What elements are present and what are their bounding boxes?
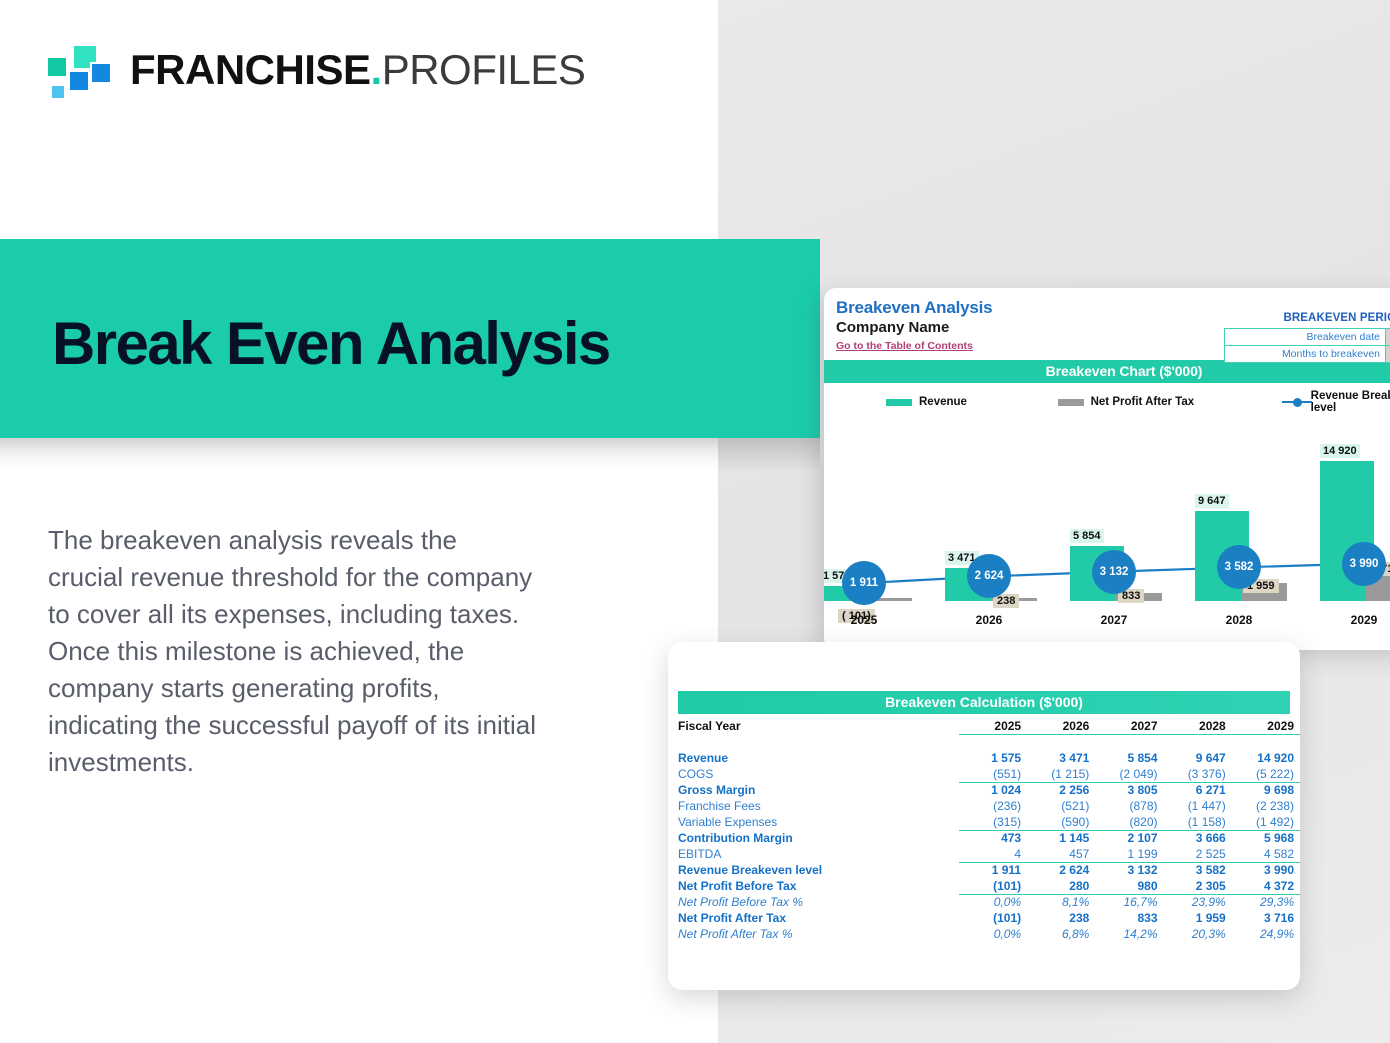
cell-2029: (2 238) bbox=[1232, 798, 1300, 814]
cell-2026: 2 624 bbox=[1027, 862, 1095, 878]
cell-2025: 473 bbox=[959, 830, 1027, 846]
breakeven-marker-2029: 3 990 bbox=[1342, 542, 1386, 586]
table-header: Fiscal Year 20252026202720282029 bbox=[668, 718, 1300, 734]
cell-2025: 1 024 bbox=[959, 782, 1027, 798]
table-row: Net Profit Before Tax(101)2809802 3054 3… bbox=[668, 878, 1300, 894]
cell-2026: 3 471 bbox=[1027, 750, 1095, 766]
cell-2026: 8,1% bbox=[1027, 894, 1095, 910]
cell-2028: 9 647 bbox=[1164, 750, 1232, 766]
row-label: EBITDA bbox=[668, 846, 959, 862]
cell-2026: 6,8% bbox=[1027, 926, 1095, 942]
legend-item-net-profit-after-tax: Net Profit After Tax bbox=[1058, 396, 1282, 408]
cell-2025: 0,0% bbox=[959, 926, 1027, 942]
breakeven-chart-plot: 1 575( 101)1 91120253 4712382 62420265 8… bbox=[824, 416, 1390, 629]
row-label: Net Profit After Tax bbox=[668, 910, 959, 926]
cell-2025: 1 911 bbox=[959, 862, 1027, 878]
cell-2027: (2 049) bbox=[1095, 766, 1163, 782]
table-spacer bbox=[668, 734, 1300, 750]
column-header-2025: 2025 bbox=[959, 718, 1027, 734]
cell-2029: (1 492) bbox=[1232, 814, 1300, 830]
table-body: Revenue1 5753 4715 8549 64714 920COGS(55… bbox=[668, 734, 1300, 942]
legend-label-net-profit-after-tax: Net Profit After Tax bbox=[1091, 396, 1195, 408]
cell-2027: 3 805 bbox=[1095, 782, 1163, 798]
chart-legend: Revenue Net Profit After Tax Revenue Bre… bbox=[824, 383, 1390, 414]
cell-2028: (1 447) bbox=[1164, 798, 1232, 814]
table-header-row: Fiscal Year 20252026202720282029 bbox=[668, 718, 1300, 734]
x-axis-tick-2028: 2028 bbox=[1209, 613, 1269, 627]
cell-2029: (5 222) bbox=[1232, 766, 1300, 782]
cell-2025: (236) bbox=[959, 798, 1027, 814]
cell-2028: 20,3% bbox=[1164, 926, 1232, 942]
logo-dot: . bbox=[371, 46, 382, 93]
cell-2028: 2 305 bbox=[1164, 878, 1232, 894]
legend-item-revenue-breakeven-level: Revenue Breakeven level bbox=[1282, 390, 1390, 414]
column-header-fiscal-year: Fiscal Year bbox=[668, 718, 959, 734]
months-to-breakeven-value: 8 bbox=[1386, 346, 1390, 363]
legend-line-marker-icon bbox=[1282, 398, 1307, 407]
cell-2029: 5 968 bbox=[1232, 830, 1300, 846]
intro-paragraph: The breakeven analysis reveals the cruci… bbox=[48, 522, 618, 781]
cell-2025: (101) bbox=[959, 878, 1027, 894]
table-row: Net Profit After Tax(101)2388331 9593 71… bbox=[668, 910, 1300, 926]
cell-2027: 5 854 bbox=[1095, 750, 1163, 766]
cell-2028: 3 582 bbox=[1164, 862, 1232, 878]
row-label: Franchise Fees bbox=[668, 798, 959, 814]
cell-2027: 14,2% bbox=[1095, 926, 1163, 942]
cell-2027: 3 132 bbox=[1095, 862, 1163, 878]
breakeven-period-block: BREAKEVEN PERIOD Breakeven date Aug-25 M… bbox=[1224, 312, 1390, 363]
chart-banner-title: Breakeven Chart ($'000) bbox=[824, 360, 1390, 383]
cell-2026: (521) bbox=[1027, 798, 1095, 814]
cell-2026: 1 145 bbox=[1027, 830, 1095, 846]
row-label: Contribution Margin bbox=[668, 830, 959, 846]
x-axis-tick-2026: 2026 bbox=[959, 613, 1019, 627]
cell-2027: 980 bbox=[1095, 878, 1163, 894]
table-row: Contribution Margin4731 1452 1073 6665 9… bbox=[668, 830, 1300, 846]
x-axis-tick-2027: 2027 bbox=[1084, 613, 1144, 627]
cell-2029: 4 372 bbox=[1232, 878, 1300, 894]
cell-2025: 0,0% bbox=[959, 894, 1027, 910]
cell-2027: 2 107 bbox=[1095, 830, 1163, 846]
row-label: Variable Expenses bbox=[668, 814, 959, 830]
table-row: Months to breakeven 8 bbox=[1225, 346, 1390, 363]
breakeven-marker-2026: 2 624 bbox=[967, 554, 1011, 598]
table-row: Net Profit After Tax %0,0%6,8%14,2%20,3%… bbox=[668, 926, 1300, 942]
row-label: Net Profit After Tax % bbox=[668, 926, 959, 942]
cell-2029: 24,9% bbox=[1232, 926, 1300, 942]
cell-2026: (1 215) bbox=[1027, 766, 1095, 782]
table-row: Revenue Breakeven level1 9112 6243 1323 … bbox=[668, 862, 1300, 878]
cell-2025: (315) bbox=[959, 814, 1027, 830]
months-to-breakeven-label: Months to breakeven bbox=[1225, 346, 1386, 363]
column-header-2029: 2029 bbox=[1232, 718, 1300, 734]
breakeven-period-table: Breakeven date Aug-25 Months to breakeve… bbox=[1224, 328, 1390, 363]
cell-2029: 3 716 bbox=[1232, 910, 1300, 926]
table-row: Breakeven date Aug-25 bbox=[1225, 329, 1390, 346]
background-top-left bbox=[0, 0, 718, 239]
logo-word-franchise: FRANCHISE bbox=[130, 46, 371, 93]
cell-2029: 14 920 bbox=[1232, 750, 1300, 766]
cell-2028: (3 376) bbox=[1164, 766, 1232, 782]
calculation-banner-title: Breakeven Calculation ($'000) bbox=[678, 691, 1290, 714]
x-axis-tick-2025: 2025 bbox=[834, 613, 894, 627]
cell-2029: 3 990 bbox=[1232, 862, 1300, 878]
cell-2027: (878) bbox=[1095, 798, 1163, 814]
cell-2026: 238 bbox=[1027, 910, 1095, 926]
cell-2027: 833 bbox=[1095, 910, 1163, 926]
table-row: Gross Margin1 0242 2563 8056 2719 698 bbox=[668, 782, 1300, 798]
row-label: Revenue bbox=[668, 750, 959, 766]
cell-2026: 457 bbox=[1027, 846, 1095, 862]
cell-2028: 23,9% bbox=[1164, 894, 1232, 910]
logo-mark-icon bbox=[46, 44, 108, 96]
breakeven-calculation-card: Breakeven Calculation ($'000) Fiscal Yea… bbox=[668, 642, 1300, 990]
cell-2025: (551) bbox=[959, 766, 1027, 782]
table-of-contents-link[interactable]: Go to the Table of Contents bbox=[836, 340, 973, 352]
table-row: Variable Expenses(315)(590)(820)(1 158)(… bbox=[668, 814, 1300, 830]
row-label: COGS bbox=[668, 766, 959, 782]
column-header-2028: 2028 bbox=[1164, 718, 1232, 734]
cell-2028: 6 271 bbox=[1164, 782, 1232, 798]
data-label-revenue-2028: 9 647 bbox=[1195, 494, 1229, 508]
cell-2027: 16,7% bbox=[1095, 894, 1163, 910]
legend-swatch-icon bbox=[886, 399, 912, 406]
cell-2028: 2 525 bbox=[1164, 846, 1232, 862]
legend-label-revenue-breakeven-level: Revenue Breakeven level bbox=[1311, 390, 1390, 414]
data-label-revenue-2027: 5 854 bbox=[1070, 529, 1104, 543]
logo-wordmark: FRANCHISE.PROFILES bbox=[130, 46, 585, 94]
legend-item-revenue: Revenue bbox=[886, 396, 1058, 408]
breakeven-chart-card: Breakeven Analysis Company Name Go to th… bbox=[824, 288, 1390, 650]
cell-2027: 1 199 bbox=[1095, 846, 1163, 862]
cell-2026: 2 256 bbox=[1027, 782, 1095, 798]
cell-2025: 4 bbox=[959, 846, 1027, 862]
breakeven-period-heading: BREAKEVEN PERIOD bbox=[1224, 312, 1390, 324]
cell-2027: (820) bbox=[1095, 814, 1163, 830]
cell-2026: 280 bbox=[1027, 878, 1095, 894]
table-row: COGS(551)(1 215)(2 049)(3 376)(5 222) bbox=[668, 766, 1300, 782]
column-header-2027: 2027 bbox=[1095, 718, 1163, 734]
breakeven-marker-2025: 1 911 bbox=[842, 561, 886, 605]
row-label: Net Profit Before Tax % bbox=[668, 894, 959, 910]
cell-2026: (590) bbox=[1027, 814, 1095, 830]
row-label: Gross Margin bbox=[668, 782, 959, 798]
row-label: Net Profit Before Tax bbox=[668, 878, 959, 894]
cell-2029: 9 698 bbox=[1232, 782, 1300, 798]
breakeven-date-value: Aug-25 bbox=[1386, 329, 1390, 346]
brand-logo: FRANCHISE.PROFILES bbox=[46, 44, 585, 96]
table-row: Revenue1 5753 4715 8549 64714 920 bbox=[668, 750, 1300, 766]
breakeven-calculation-table: Fiscal Year 20252026202720282029 Revenue… bbox=[668, 718, 1300, 942]
column-header-2026: 2026 bbox=[1027, 718, 1095, 734]
cell-2028: (1 158) bbox=[1164, 814, 1232, 830]
breakeven-marker-2027: 3 132 bbox=[1092, 550, 1136, 594]
row-label: Revenue Breakeven level bbox=[668, 862, 959, 878]
table-row: Net Profit Before Tax %0,0%8,1%16,7%23,9… bbox=[668, 894, 1300, 910]
logo-word-profiles: PROFILES bbox=[382, 46, 586, 93]
page-title: Break Even Analysis bbox=[52, 309, 610, 378]
data-label-revenue-2029: 14 920 bbox=[1320, 444, 1360, 458]
cell-2025: 1 575 bbox=[959, 750, 1027, 766]
legend-label-revenue: Revenue bbox=[919, 396, 967, 408]
table-row: EBITDA44571 1992 5254 582 bbox=[668, 846, 1300, 862]
x-axis-tick-2029: 2029 bbox=[1334, 613, 1390, 627]
cell-2028: 3 666 bbox=[1164, 830, 1232, 846]
breakeven-date-label: Breakeven date bbox=[1225, 329, 1386, 346]
cell-2029: 4 582 bbox=[1232, 846, 1300, 862]
legend-swatch-icon bbox=[1058, 399, 1084, 406]
table-row: Franchise Fees(236)(521)(878)(1 447)(2 2… bbox=[668, 798, 1300, 814]
cell-2028: 1 959 bbox=[1164, 910, 1232, 926]
cell-2029: 29,3% bbox=[1232, 894, 1300, 910]
cell-2025: (101) bbox=[959, 910, 1027, 926]
chart-card-header: Breakeven Analysis Company Name Go to th… bbox=[824, 298, 1390, 360]
